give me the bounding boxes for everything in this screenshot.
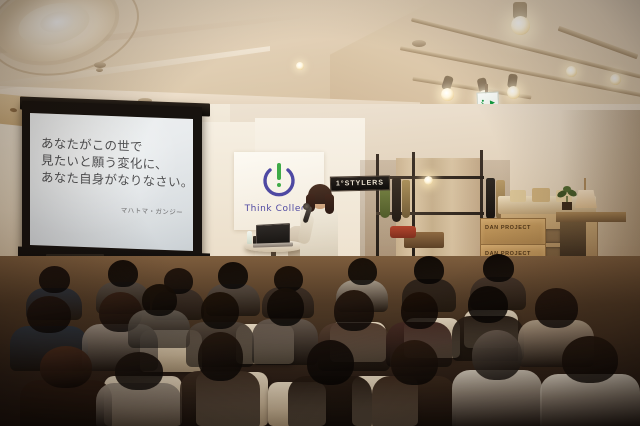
hanging-garment: [486, 178, 495, 220]
attendee-glossy-bob: [372, 340, 456, 426]
attendee-head: [108, 260, 138, 287]
potted-plant-icon: [556, 184, 578, 210]
shelf-cubby: [545, 229, 561, 243]
track-spotlight-icon: [507, 86, 520, 99]
track-spotlight-icon: [511, 16, 530, 35]
attendee-head: [334, 290, 374, 331]
slide-text-block: あなたがこの世で 見たいと願う変化に、 あなた自身がなりなさい。: [41, 134, 191, 191]
shelf-lamp: [575, 190, 597, 208]
attendee-head: [414, 256, 444, 284]
seminar-photo: DAN PROJECT DAN PROJECT 1°STYLERS あなたがこの…: [0, 0, 640, 426]
attendee-head: [115, 352, 163, 390]
attendee-head: [483, 254, 514, 282]
attendee-right-edge: [540, 336, 640, 426]
presenter-hair-side: [325, 194, 334, 214]
attendee-head: [348, 258, 377, 285]
attendee-head: [307, 340, 354, 385]
shelf-contents: [560, 222, 586, 256]
microphone-head: [303, 203, 310, 210]
stylers-sign-label: 1°STYLERS: [336, 179, 384, 187]
wooden-crate: DAN PROJECT: [480, 218, 546, 246]
attendee-head: [40, 346, 92, 388]
ceiling-vent: [412, 40, 426, 47]
track-spotlight-icon: [610, 74, 621, 85]
hanging-garment: [402, 180, 410, 218]
attendee-head: [142, 284, 177, 316]
attendee-head: [218, 262, 248, 289]
attendee-head: [535, 288, 578, 328]
display-merchandise: [390, 226, 416, 238]
attendee-head: [391, 340, 438, 385]
shelf-lamp-arm: [584, 178, 586, 192]
attendee-grey-haired-man: [452, 330, 542, 426]
power-button-icon: [259, 161, 299, 201]
projector-screen: あなたがこの世で 見たいと願う変化に、 あなた自身がなりなさい。 マハトマ・ガン…: [30, 113, 193, 251]
attendee-dark-bob: [180, 332, 260, 426]
stylers-shop-sign: 1°STYLERS: [330, 175, 390, 191]
attendee-head: [27, 296, 71, 333]
attendee-head: [401, 292, 438, 329]
beam-knot: [10, 108, 17, 113]
attendee-grey-tshirt: [96, 352, 182, 426]
attendee-head: [201, 292, 239, 329]
sprinkler-icon: [96, 68, 103, 72]
wall-shelf: [556, 212, 626, 222]
track-spotlight-icon: [296, 62, 304, 70]
attendee-head: [198, 332, 243, 381]
crate-label: DAN PROJECT: [485, 225, 531, 231]
attendee-head: [472, 330, 522, 380]
track-spotlight-icon: [441, 88, 454, 101]
merchandise-item: [532, 188, 550, 202]
water-bottle: [247, 231, 252, 244]
attendee-head: [468, 286, 508, 323]
hanging-garment: [392, 178, 401, 222]
attendee-head: [39, 266, 70, 293]
attendee-centre-man: [288, 340, 372, 426]
merchandise-item: [510, 190, 526, 202]
attendee-head: [562, 336, 618, 383]
track-spotlight-icon: [566, 66, 577, 77]
display-spotlight-icon: [424, 176, 433, 185]
attendee-head: [267, 288, 304, 326]
